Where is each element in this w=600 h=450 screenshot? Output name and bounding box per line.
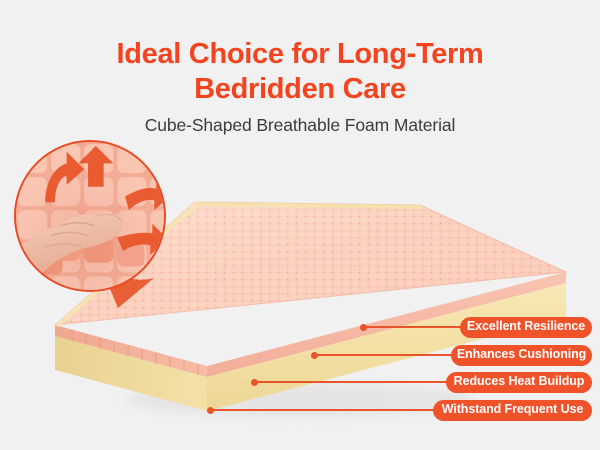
callout-label: Reduces Heat Buildup xyxy=(446,372,592,393)
callout-line xyxy=(209,409,434,411)
callout-line xyxy=(253,381,447,383)
callout-withstand-frequent-use: Withstand Frequent Use xyxy=(0,399,592,421)
callout-excellent-resilience: Excellent Resilience xyxy=(0,316,592,338)
callout-line xyxy=(362,326,462,328)
callout-enhances-cushioning: Enhances Cushioning xyxy=(0,344,592,366)
callout-label: Enhances Cushioning xyxy=(451,345,592,366)
feature-callouts: Excellent Resilience Enhances Cushioning… xyxy=(0,0,600,450)
callout-label: Withstand Frequent Use xyxy=(433,400,592,421)
callout-reduces-heat-buildup: Reduces Heat Buildup xyxy=(0,371,592,393)
callout-line xyxy=(313,354,452,356)
callout-label: Excellent Resilience xyxy=(460,317,592,338)
product-infographic: Ideal Choice for Long-Term Bedridden Car… xyxy=(0,0,600,450)
